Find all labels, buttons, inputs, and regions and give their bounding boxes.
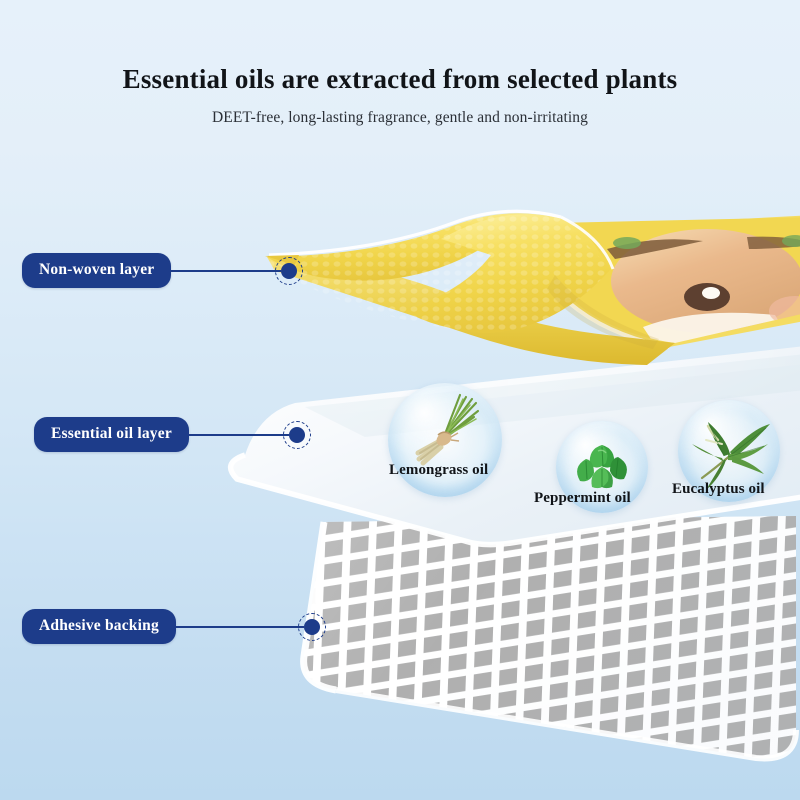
marker-dot-icon [281,263,297,279]
marker-dot-icon [304,619,320,635]
non-woven-layer [255,215,800,380]
lemongrass-oil-label: Lemongrass oil [389,462,488,479]
header: Essential oils are extracted from select… [0,0,800,127]
callout-essential-oil-layer[interactable]: Essential oil layer [34,417,311,452]
lemongrass-bubble [388,383,502,497]
marker-dot-icon [289,427,305,443]
eucalyptus-oil-label: Eucalyptus oil [672,481,765,498]
infographic-canvas: Essential oils are extracted from select… [0,0,800,800]
callout-marker-essential-oil [283,421,311,449]
callout-leader-line [189,434,289,436]
callout-label-non-woven[interactable]: Non-woven layer [22,253,171,288]
page-subtitle: DEET-free, long-lasting fragrance, gentl… [0,109,800,127]
callout-marker-adhesive [298,613,326,641]
lemongrass-bundle-icon [388,383,502,497]
peppermint-oil-label: Peppermint oil [534,490,631,507]
callout-label-essential-oil[interactable]: Essential oil layer [34,417,189,452]
page-title: Essential oils are extracted from select… [0,64,800,95]
callout-adhesive-backing[interactable]: Adhesive backing [22,609,326,644]
callout-leader-line [171,270,281,272]
callout-leader-line [176,626,304,628]
callout-label-adhesive[interactable]: Adhesive backing [22,609,176,644]
callout-non-woven-layer[interactable]: Non-woven layer [22,253,303,288]
callout-marker-non-woven [275,257,303,285]
